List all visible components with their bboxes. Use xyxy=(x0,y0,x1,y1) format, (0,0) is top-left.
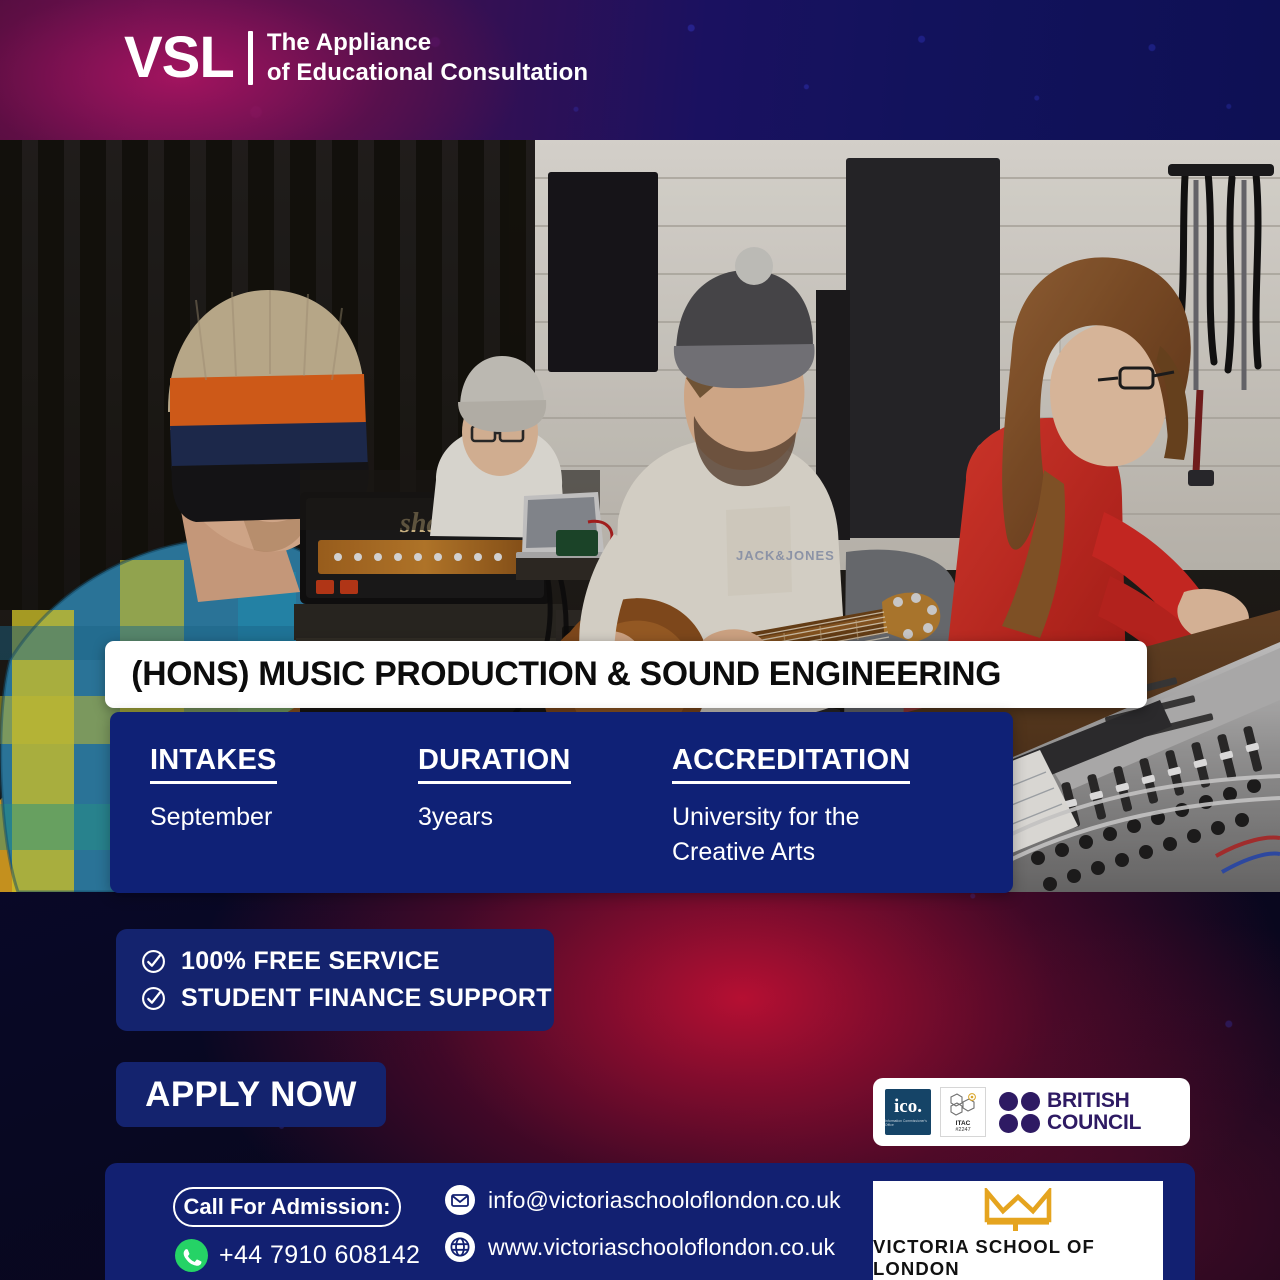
info-value-intakes: September xyxy=(150,800,400,835)
info-column-duration: DURATION 3years xyxy=(418,744,658,835)
british-council-wordmark: BRITISH COUNCIL xyxy=(1047,1090,1141,1134)
vsl-logo[interactable]: VSL The Appliance of Educational Consult… xyxy=(124,27,588,89)
apply-now-label: APPLY NOW xyxy=(145,1075,357,1115)
page-header: VSL The Appliance of Educational Consult… xyxy=(0,0,1280,140)
british-council-line2: COUNCIL xyxy=(1047,1112,1141,1134)
poster-canvas: VSL The Appliance of Educational Consult… xyxy=(0,0,1280,1280)
info-heading-duration: DURATION xyxy=(418,744,571,784)
tagline-line-2: of Educational Consultation xyxy=(267,58,588,88)
itac-badge-line1: ITAC xyxy=(956,1120,971,1127)
whatsapp-contact[interactable]: +44 7910 608142 xyxy=(175,1239,420,1272)
info-heading-intakes: INTAKES xyxy=(150,744,277,784)
vsl-logo-tagline: The Appliance of Educational Consultatio… xyxy=(267,27,588,89)
info-column-accreditation: ACCREDITATION University for the Creativ… xyxy=(672,744,972,870)
accreditation-badges: ico. Information Commissioner's Office I… xyxy=(873,1078,1190,1146)
benefits-box: 100% FREE SERVICE STUDENT FINANCE SUPPOR… xyxy=(116,929,554,1031)
website-contact[interactable]: www.victoriaschooloflondon.co.uk xyxy=(445,1232,841,1262)
british-council-dots-icon xyxy=(999,1092,1040,1133)
crown-icon xyxy=(982,1188,1054,1232)
school-logo-box: VICTORIA SCHOOL OF LONDON xyxy=(873,1181,1163,1280)
whatsapp-number: +44 7910 608142 xyxy=(219,1241,420,1270)
logo-divider-rule xyxy=(248,31,253,85)
info-value-duration: 3years xyxy=(418,800,658,835)
check-circle-icon xyxy=(141,949,166,974)
ico-badge-name: ico. xyxy=(894,1097,922,1116)
course-title-banner: (HONS) MUSIC PRODUCTION & SOUND ENGINEER… xyxy=(105,641,1147,708)
course-info-panel: INTAKES September DURATION 3years ACCRED… xyxy=(110,712,1013,893)
benefit-item-free-service: 100% FREE SERVICE xyxy=(116,943,554,980)
benefit-label: 100% FREE SERVICE xyxy=(181,947,440,976)
envelope-icon xyxy=(445,1185,475,1215)
footer-contact-bar: Call For Admission: +44 7910 608142 info… xyxy=(105,1163,1195,1280)
globe-icon xyxy=(445,1232,475,1262)
check-circle-icon xyxy=(141,986,166,1011)
itac-badge-line2: #2247 xyxy=(955,1127,970,1133)
email-address: info@victoriaschooloflondon.co.uk xyxy=(488,1187,841,1214)
school-name: VICTORIA SCHOOL OF LONDON xyxy=(873,1236,1163,1280)
apply-now-button[interactable]: APPLY NOW xyxy=(116,1062,386,1127)
benefit-label: STUDENT FINANCE SUPPORT xyxy=(181,984,552,1013)
info-column-intakes: INTAKES September xyxy=(150,744,400,835)
ico-badge: ico. Information Commissioner's Office xyxy=(885,1089,931,1135)
british-council-line1: BRITISH xyxy=(1047,1090,1141,1112)
website-url: www.victoriaschooloflondon.co.uk xyxy=(488,1234,835,1261)
info-heading-accreditation: ACCREDITATION xyxy=(672,744,910,784)
footer-contact-list: info@victoriaschooloflondon.co.uk www.vi… xyxy=(445,1185,841,1262)
itac-hexagon-icon xyxy=(948,1092,978,1118)
course-title: (HONS) MUSIC PRODUCTION & SOUND ENGINEER… xyxy=(110,655,1002,694)
email-contact[interactable]: info@victoriaschooloflondon.co.uk xyxy=(445,1185,841,1215)
whatsapp-icon xyxy=(175,1239,208,1272)
call-for-admission-pill: Call For Admission: xyxy=(173,1187,401,1227)
call-for-admission-label: Call For Admission: xyxy=(184,1194,391,1220)
vsl-logo-mark: VSL xyxy=(124,27,234,89)
ico-badge-subtitle: Information Commissioner's Office xyxy=(885,1119,931,1127)
tagline-line-1: The Appliance xyxy=(267,28,588,58)
itac-badge: ITAC #2247 xyxy=(940,1087,986,1137)
british-council-badge: BRITISH COUNCIL xyxy=(999,1090,1141,1134)
info-value-accreditation: University for the Creative Arts xyxy=(672,800,972,870)
benefit-item-finance-support: STUDENT FINANCE SUPPORT xyxy=(116,980,554,1017)
